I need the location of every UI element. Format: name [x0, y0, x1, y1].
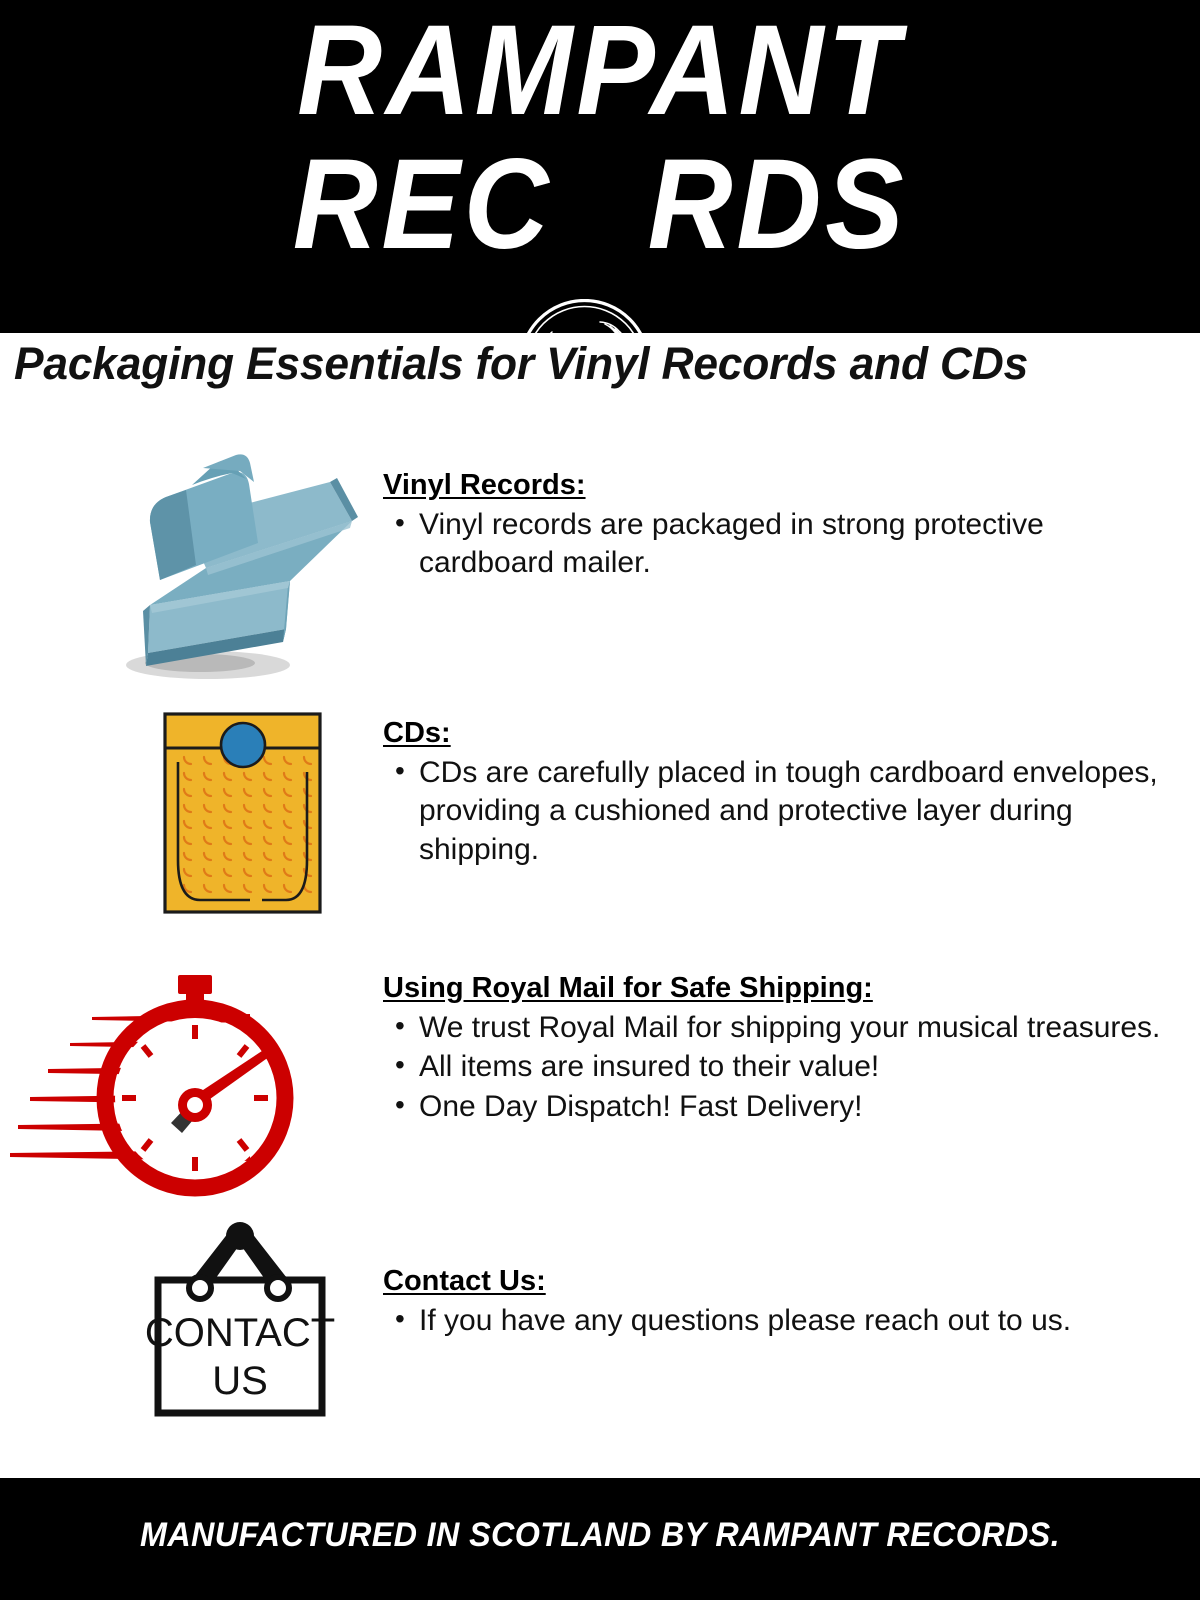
section-royal-mail-text: Using Royal Mail for Safe Shipping: We t… — [383, 973, 1173, 1127]
poster-page: RAMPANT RECORDS — [0, 0, 1200, 1600]
brand-logo-line-2: RECORDS — [0, 140, 1200, 320]
footer-text: MANUFACTURED IN SCOTLAND BY RAMPANT RECO… — [30, 1516, 1170, 1555]
section-contact-us-text: Contact Us: If you have any questions pl… — [383, 1266, 1173, 1341]
section-cds-image — [0, 700, 380, 935]
brand-logo-line-2-text: RECORDS — [48, 140, 1152, 271]
list-item: If you have any questions please reach o… — [383, 1302, 1173, 1340]
list-item: We trust Royal Mail for shipping your mu… — [383, 1009, 1173, 1047]
section-cds-text: CDs: CDs are carefully placed in tough c… — [383, 718, 1173, 870]
section-vinyl-records-image — [0, 425, 380, 690]
sign-text-line-1: CONTACT — [145, 1311, 335, 1355]
section-vinyl-records: Vinyl Records: Vinyl records are package… — [0, 425, 1200, 685]
sign-text-line-2: US — [212, 1359, 268, 1403]
header-banner: RAMPANT RECORDS — [0, 0, 1200, 333]
section-vinyl-records-text: Vinyl Records: Vinyl records are package… — [383, 470, 1173, 584]
footer-banner: MANUFACTURED IN SCOTLAND BY RAMPANT RECO… — [0, 1478, 1200, 1600]
list-item: CDs are carefully placed in tough cardbo… — [383, 754, 1173, 869]
section-heading: Contact Us: — [383, 1266, 546, 1298]
vinyl-record-icon — [519, 299, 650, 333]
cardboard-mailer-box-icon — [0, 425, 380, 685]
section-cds: CDs: CDs are carefully placed in tough c… — [0, 700, 1200, 930]
fast-stopwatch-icon — [0, 955, 380, 1205]
brand-logo-line-2-after: RDS — [648, 133, 908, 276]
list-item: All items are insured to their value! — [383, 1048, 1173, 1086]
padded-bubble-envelope-icon — [0, 700, 380, 930]
section-heading: CDs: — [383, 718, 451, 750]
list-item: One Day Dispatch! Fast Delivery! — [383, 1088, 1173, 1126]
section-contact-us-image: CONTACT US — [0, 1218, 380, 1423]
section-bullet-list: If you have any questions please reach o… — [383, 1302, 1173, 1340]
section-heading: Using Royal Mail for Safe Shipping: — [383, 973, 873, 1005]
page-subtitle: Packaging Essentials for Vinyl Records a… — [14, 338, 1171, 390]
section-heading: Vinyl Records: — [383, 470, 586, 502]
section-bullet-list: CDs are carefully placed in tough cardbo… — [383, 754, 1173, 869]
brand-logo-line-1: RAMPANT — [48, 6, 1152, 137]
brand-logo-line-2-before: REC — [293, 133, 553, 276]
list-item: Vinyl records are packaged in strong pro… — [383, 506, 1173, 583]
section-royal-mail: Using Royal Mail for Safe Shipping: We t… — [0, 955, 1200, 1205]
section-bullet-list: We trust Royal Mail for shipping your mu… — [383, 1009, 1173, 1126]
section-contact-us: CONTACT US Contact Us: If you have any q… — [0, 1218, 1200, 1418]
contact-us-sign-icon: CONTACT US — [0, 1218, 380, 1418]
section-royal-mail-image — [0, 955, 380, 1210]
section-bullet-list: Vinyl records are packaged in strong pro… — [383, 506, 1173, 583]
